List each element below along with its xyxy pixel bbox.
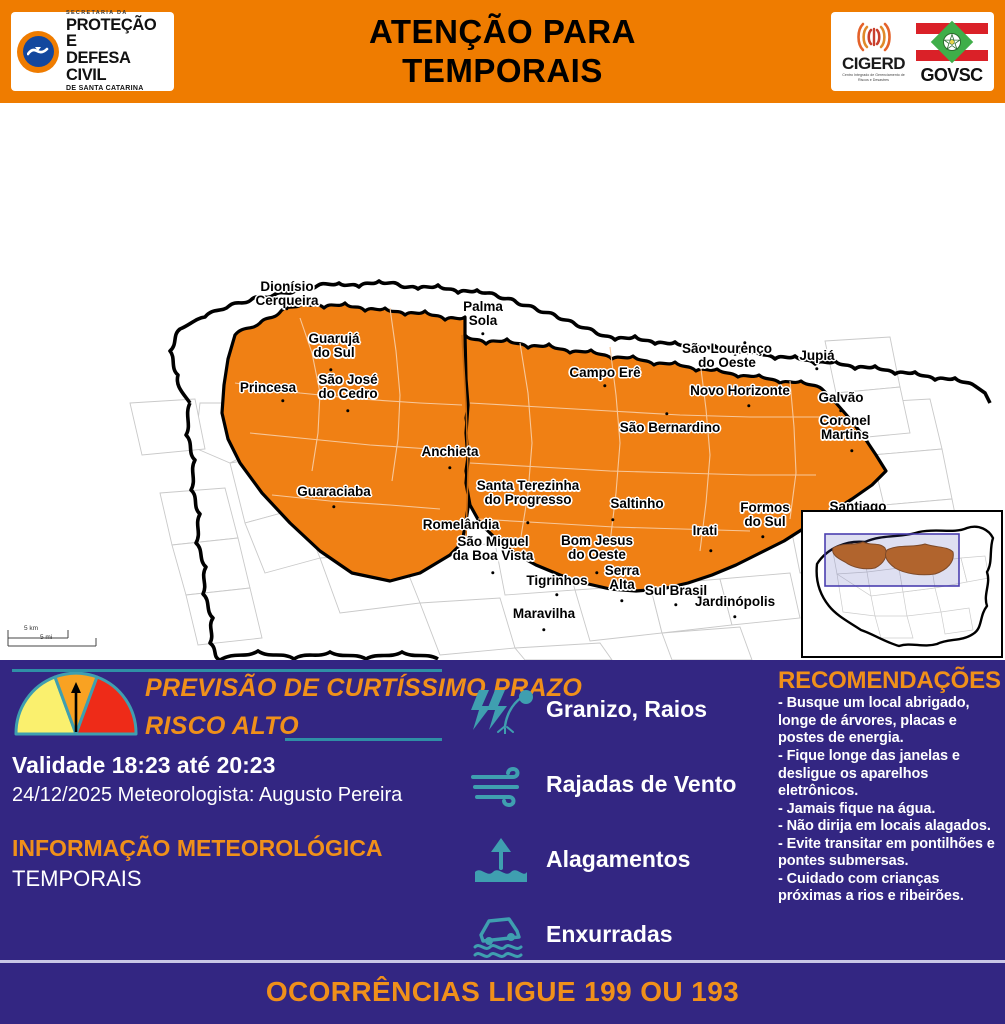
emergency-footer: OCORRÊNCIAS LIGUE 199 OU 193 bbox=[0, 960, 1005, 1024]
footer-divider bbox=[0, 960, 1005, 963]
logo-santa-catarina-line: DE SANTA CATARINA bbox=[66, 85, 168, 92]
cigerd-mark-icon bbox=[854, 20, 894, 54]
page-title-line2: TEMPORAIS bbox=[402, 52, 603, 90]
wind-gust-icon bbox=[468, 759, 534, 811]
risk-level-title: RISCO ALTO bbox=[145, 712, 299, 741]
coat-of-arms-icon bbox=[940, 30, 964, 54]
risk-gauge-icon bbox=[12, 672, 140, 736]
recommendation-item: - Evite transitar em pontilhões e pontes… bbox=[778, 836, 1000, 871]
defesa-civil-emblem-icon bbox=[17, 31, 59, 73]
recommendations-list: - Busque um local abrigado, longe de árv… bbox=[778, 695, 1000, 905]
inset-highlight-box bbox=[825, 534, 959, 586]
cigerd-name: CIGERD bbox=[842, 55, 905, 72]
hazard-label: Rajadas de Vento bbox=[546, 771, 736, 798]
state-south-boundary-segment bbox=[220, 651, 438, 660]
cigerd-logo: CIGERD Centro Integrado de Gerenciamento… bbox=[838, 20, 910, 82]
recommendation-item: - Cuidado com crianças próximas a rios e… bbox=[778, 871, 1000, 906]
inset-locator-map[interactable] bbox=[801, 510, 1003, 658]
page-title-line1: ATENÇÃO PARA bbox=[369, 13, 636, 51]
govsc-gov-text: GOV bbox=[920, 65, 958, 85]
recommendation-item: - Não dirija em locais alagados. bbox=[778, 818, 1000, 836]
meteorological-info-value: TEMPORAIS bbox=[12, 866, 142, 892]
risk-gauge bbox=[12, 672, 140, 736]
meteorological-info-title: INFORMAÇÃO METEOROLÓGICA bbox=[12, 835, 383, 862]
info-panel: PREVISÃO DE CURTÍSSIMO PRAZO RISCO ALTO … bbox=[0, 660, 1005, 960]
meteorologist-line: 24/12/2025 Meteorologista: Augusto Perei… bbox=[12, 784, 402, 807]
recommendations-block: RECOMENDAÇÕES - Busque um local abrigado… bbox=[778, 668, 1000, 906]
govsc-logo: GOVSC bbox=[916, 20, 988, 84]
flash-flood-icon bbox=[468, 909, 534, 961]
scalebar-mi-label: 5 mi bbox=[40, 634, 52, 641]
flood-icon bbox=[468, 834, 534, 886]
validity-period: Validade 18:23 até 20:23 bbox=[12, 752, 275, 779]
logo-defesa-line: DEFESA CIVIL bbox=[66, 50, 168, 84]
govsc-sc-text: SC bbox=[959, 65, 983, 85]
civil-defense-wave-icon bbox=[27, 45, 49, 59]
defesa-civil-logo: SECRETARIA DA PROTEÇÃO E DEFESA CIVIL DE… bbox=[11, 12, 174, 91]
hazard-item-flood: Alagamentos bbox=[468, 822, 768, 897]
emergency-phone-text: OCORRÊNCIAS LIGUE 199 OU 193 bbox=[266, 976, 739, 1008]
cigerd-subtitle: Centro Integrado de Gerenciamento de Ris… bbox=[838, 73, 910, 82]
hazard-label: Alagamentos bbox=[546, 846, 690, 873]
logo-protecao-line: PROTEÇÃO E bbox=[66, 17, 168, 51]
hazard-list: Granizo, Raios Rajadas de Vento bbox=[468, 672, 768, 972]
alert-infographic: SECRETARIA DA PROTEÇÃO E DEFESA CIVIL DE… bbox=[0, 0, 1005, 1024]
hazard-item-hail-lightning: Granizo, Raios bbox=[468, 672, 768, 747]
govsc-name: GOVSC bbox=[920, 66, 982, 84]
santa-catarina-flag-icon bbox=[916, 20, 988, 64]
inset-map-geometry bbox=[803, 512, 1001, 656]
hazard-label: Granizo, Raios bbox=[546, 696, 707, 723]
cigerd-govsc-logo: CIGERD Centro Integrado de Gerenciamento… bbox=[831, 12, 994, 91]
hazard-label: Enxurradas bbox=[546, 921, 673, 948]
recommendation-item: - Fique longe das janelas e desligue os … bbox=[778, 748, 1000, 801]
hail-lightning-icon bbox=[468, 684, 534, 736]
alert-map[interactable]: DionísioCerqueiraPalmaSolaGuarujádo SulC… bbox=[0, 103, 1005, 660]
recommendations-title: RECOMENDAÇÕES bbox=[778, 668, 1000, 694]
recommendation-item: - Jamais fique na água. bbox=[778, 801, 1000, 819]
hazard-item-wind: Rajadas de Vento bbox=[468, 747, 768, 822]
scalebar-km-label: 5 km bbox=[24, 625, 38, 632]
divider-risk bbox=[285, 738, 442, 741]
map-scalebar: 5 km 5 mi bbox=[6, 624, 102, 650]
recommendation-item: - Busque um local abrigado, longe de árv… bbox=[778, 695, 1000, 748]
header-banner: SECRETARIA DA PROTEÇÃO E DEFESA CIVIL DE… bbox=[0, 0, 1005, 103]
